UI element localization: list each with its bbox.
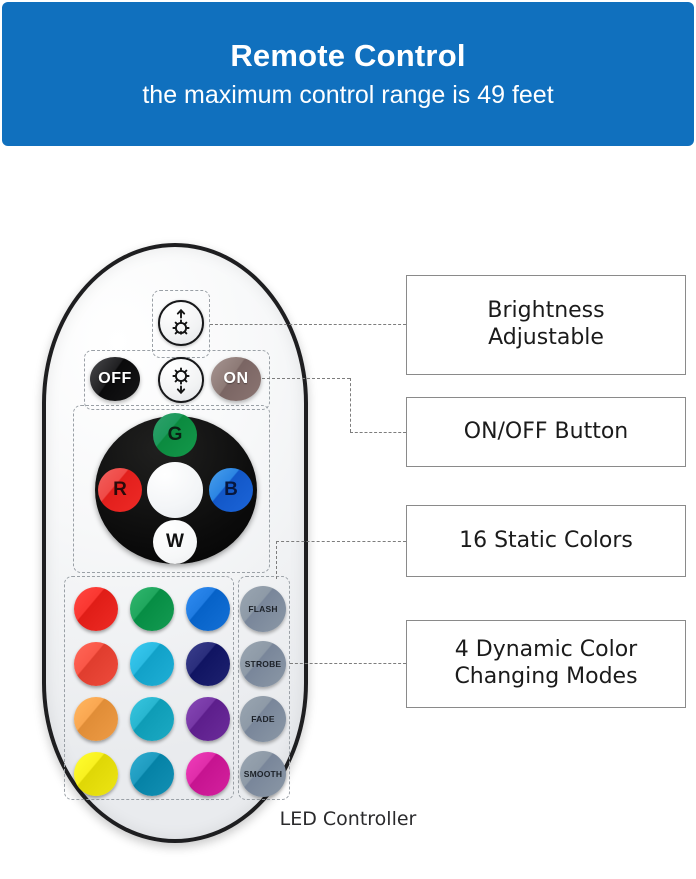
mode-button-label: FLASH xyxy=(248,604,277,614)
static-color-grid xyxy=(68,581,236,801)
header-banner: Remote Control the maximum control range… xyxy=(2,2,694,146)
color-cell xyxy=(68,746,124,801)
mode-cell: FLASH xyxy=(240,581,286,636)
callout-dynamic-modes: 4 Dynamic ColorChanging Modes xyxy=(406,620,686,708)
rgb-green-button[interactable]: G xyxy=(153,413,197,457)
power-off-label: OFF xyxy=(98,370,132,388)
mode-cell: FADE xyxy=(240,691,286,746)
rgb-blue-label: B xyxy=(224,479,238,501)
rgb-white-button[interactable]: W xyxy=(153,520,197,564)
color-cell xyxy=(180,636,236,691)
rgb-center-button[interactable] xyxy=(147,462,203,518)
mode-button-fade[interactable]: FADE xyxy=(240,696,286,742)
mode-button-strobe[interactable]: STROBE xyxy=(240,641,286,687)
connector-line-power-c xyxy=(350,432,406,433)
color-button-blue[interactable] xyxy=(186,587,230,631)
color-button-cyan[interactable] xyxy=(130,697,174,741)
color-button-orange-red[interactable] xyxy=(74,642,118,686)
callout-brightness: BrightnessAdjustable xyxy=(406,275,686,375)
product-feature-infographic: Remote Control the maximum control range… xyxy=(0,0,696,879)
callout-static-colors-text: 16 Static Colors xyxy=(459,528,633,555)
color-button-orange[interactable] xyxy=(74,697,118,741)
brightness-down-icon xyxy=(166,364,196,396)
color-cell xyxy=(180,746,236,801)
callout-brightness-text: BrightnessAdjustable xyxy=(487,298,604,352)
color-button-teal[interactable] xyxy=(130,752,174,796)
connector-line-brightness xyxy=(210,324,406,325)
mode-cell: STROBE xyxy=(240,636,286,691)
color-button-yellow[interactable] xyxy=(74,752,118,796)
color-button-navy[interactable] xyxy=(186,642,230,686)
color-cell xyxy=(124,581,180,636)
brightness-up-icon xyxy=(166,307,196,339)
color-button-light-blue[interactable] xyxy=(130,642,174,686)
rgbw-pad: G R B W xyxy=(95,416,257,564)
color-button-purple[interactable] xyxy=(186,697,230,741)
color-cell xyxy=(124,691,180,746)
dynamic-mode-column: FLASHSTROBEFADESMOOTH xyxy=(240,581,286,801)
rgb-white-label: W xyxy=(166,531,184,553)
color-cell xyxy=(180,581,236,636)
power-on-label: ON xyxy=(224,370,249,388)
banner-subtitle: the maximum control range is 49 feet xyxy=(142,82,553,108)
color-button-red[interactable] xyxy=(74,587,118,631)
connector-line-modes xyxy=(290,663,406,664)
color-cell xyxy=(124,636,180,691)
color-button-magenta[interactable] xyxy=(186,752,230,796)
mode-button-flash[interactable]: FLASH xyxy=(240,586,286,632)
callout-static-colors: 16 Static Colors xyxy=(406,505,686,577)
color-cell xyxy=(68,691,124,746)
remote-brand-label: LED Controller xyxy=(0,808,696,830)
connector-line-power-b xyxy=(350,378,351,432)
color-cell xyxy=(124,746,180,801)
callout-power: ON/OFF Button xyxy=(406,397,686,467)
brightness-up-button[interactable] xyxy=(158,300,204,346)
connector-line-power-a xyxy=(262,378,350,379)
mode-button-label: FADE xyxy=(251,714,274,724)
color-button-green[interactable] xyxy=(130,587,174,631)
rgb-red-button[interactable]: R xyxy=(98,468,142,512)
power-on-button[interactable]: ON xyxy=(211,357,261,401)
power-off-button[interactable]: OFF xyxy=(90,357,140,401)
connector-line-colors-a xyxy=(276,541,277,579)
mode-cell: SMOOTH xyxy=(240,746,286,801)
mode-button-smooth[interactable]: SMOOTH xyxy=(240,751,286,797)
callout-dynamic-modes-text: 4 Dynamic ColorChanging Modes xyxy=(454,637,637,691)
brightness-down-button[interactable] xyxy=(158,357,204,403)
callout-power-text: ON/OFF Button xyxy=(464,419,629,446)
mode-button-label: STROBE xyxy=(245,659,282,669)
rgb-red-label: R xyxy=(113,479,127,501)
banner-title: Remote Control xyxy=(230,40,465,73)
color-cell xyxy=(68,636,124,691)
color-cell xyxy=(68,581,124,636)
rgb-blue-button[interactable]: B xyxy=(209,468,253,512)
mode-button-label: SMOOTH xyxy=(244,769,283,779)
color-cell xyxy=(180,691,236,746)
rgb-green-label: G xyxy=(168,424,183,446)
connector-line-colors-b xyxy=(276,541,406,542)
